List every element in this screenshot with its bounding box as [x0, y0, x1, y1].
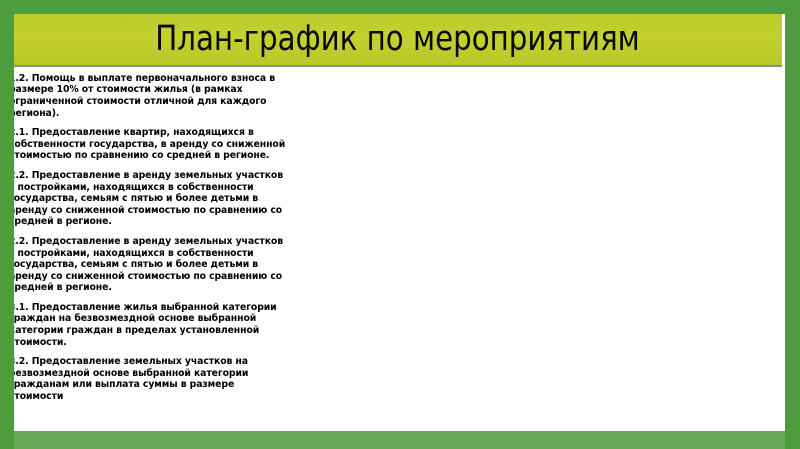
measure-text: Помощь в выплате первоначального взноса … [9, 73, 275, 119]
measure-item: 2.1. Предоставление квартир, находящихся… [0, 127, 292, 162]
measure-item: 2.2. Предоставление в аренду земельных у… [0, 170, 292, 228]
slide: 1.1. Предоставить ипотечное кредитование… [0, 0, 800, 449]
title-bar: План-график по мероприятиям [14, 14, 782, 65]
measure-text: Предоставление квартир, находящихся в со… [9, 127, 285, 161]
measure-text: Предоставление в аренду земельных участк… [9, 236, 283, 293]
measure-item: 3.2. Предоставление земельных участков н… [0, 356, 292, 402]
frame-right-border [785, 0, 800, 449]
measure-item: 1.2. Помощь в выплате первоначального вз… [0, 73, 292, 119]
frame-left-border [0, 0, 14, 449]
measure-item: 3.1. Предоставление жилья выбранной кате… [0, 302, 292, 348]
frame-top-border [0, 0, 800, 14]
frame-bottom-border [0, 431, 800, 449]
measure-text: Предоставление в аренду земельных участк… [9, 170, 283, 227]
page-title: План-график по мероприятиям [156, 22, 641, 57]
measure-text: Предоставление земельных участков на без… [9, 356, 248, 402]
measure-item: 2.2. Предоставление в аренду земельных у… [0, 236, 292, 294]
measure-text: Предоставление жилья выбранной категории… [9, 302, 277, 348]
measures-text-column: 1.1. Предоставить ипотечное кредитование… [0, 30, 292, 383]
